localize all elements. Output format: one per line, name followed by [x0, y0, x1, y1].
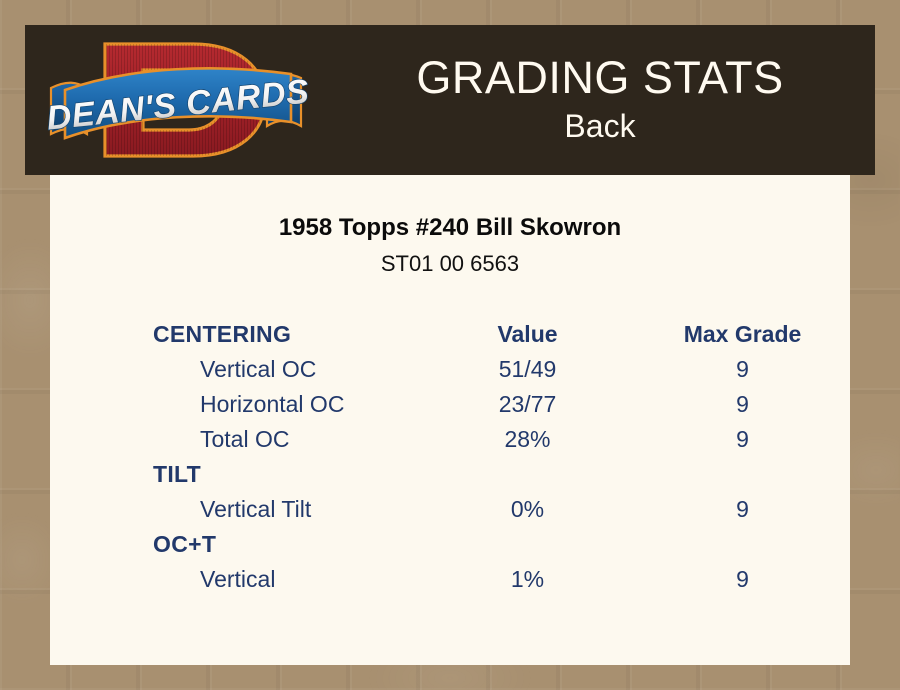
stats-section-heading: TILT	[50, 457, 420, 492]
page-title: GRADING STATS	[416, 54, 783, 101]
stats-section-heading-row: TILT	[50, 457, 850, 492]
header-title-group: GRADING STATS Back	[325, 25, 875, 175]
stats-row-value: 0%	[420, 492, 635, 527]
stats-row-label: Vertical Tilt	[50, 492, 420, 527]
page-root: DEAN'S CARDS GRADING STATS Back 1958 Top…	[0, 0, 900, 690]
stats-row-label: Total OC	[50, 422, 420, 457]
max-grade-column-header: Max Grade	[635, 317, 850, 352]
stats-section-heading-row: CENTERINGValueMax Grade	[50, 317, 850, 352]
grading-stats-body: CENTERINGValueMax GradeVertical OC51/499…	[50, 317, 850, 597]
stats-row-value: 23/77	[420, 387, 635, 422]
stats-row-value: 28%	[420, 422, 635, 457]
stats-row: Vertical Tilt0%9	[50, 492, 850, 527]
grading-stats-table: CENTERINGValueMax GradeVertical OC51/499…	[50, 317, 850, 597]
stats-row-max-grade: 9	[635, 562, 850, 597]
page-subtitle: Back	[564, 107, 635, 145]
stats-row-label: Vertical	[50, 562, 420, 597]
stats-row: Vertical1%9	[50, 562, 850, 597]
stats-row-value: 1%	[420, 562, 635, 597]
content-panel: 1958 Topps #240 Bill Skowron ST01 00 656…	[50, 175, 850, 665]
stats-row-max-grade: 9	[635, 352, 850, 387]
card-serial-number: ST01 00 6563	[50, 251, 850, 277]
stats-row-max-grade: 9	[635, 387, 850, 422]
stats-row-label: Vertical OC	[50, 352, 420, 387]
stats-section-heading: OC+T	[50, 527, 420, 562]
deans-cards-logo[interactable]: DEAN'S CARDS	[43, 30, 308, 170]
stats-row-value: 51/49	[420, 352, 635, 387]
stats-section-heading-row: OC+T	[50, 527, 850, 562]
value-column-header: Value	[420, 317, 635, 352]
deans-cards-logo-icon: DEAN'S CARDS	[43, 30, 308, 170]
value-column-spacer	[420, 527, 635, 562]
max-grade-column-spacer	[635, 527, 850, 562]
stats-row-max-grade: 9	[635, 422, 850, 457]
card-title: 1958 Topps #240 Bill Skowron	[50, 213, 850, 243]
stats-row: Vertical OC51/499	[50, 352, 850, 387]
stats-row: Horizontal OC23/779	[50, 387, 850, 422]
stats-section-heading: CENTERING	[50, 317, 420, 352]
stats-row-max-grade: 9	[635, 492, 850, 527]
header-bar: DEAN'S CARDS GRADING STATS Back	[25, 25, 875, 175]
value-column-spacer	[420, 457, 635, 492]
max-grade-column-spacer	[635, 457, 850, 492]
stats-row-label: Horizontal OC	[50, 387, 420, 422]
stats-row: Total OC28%9	[50, 422, 850, 457]
